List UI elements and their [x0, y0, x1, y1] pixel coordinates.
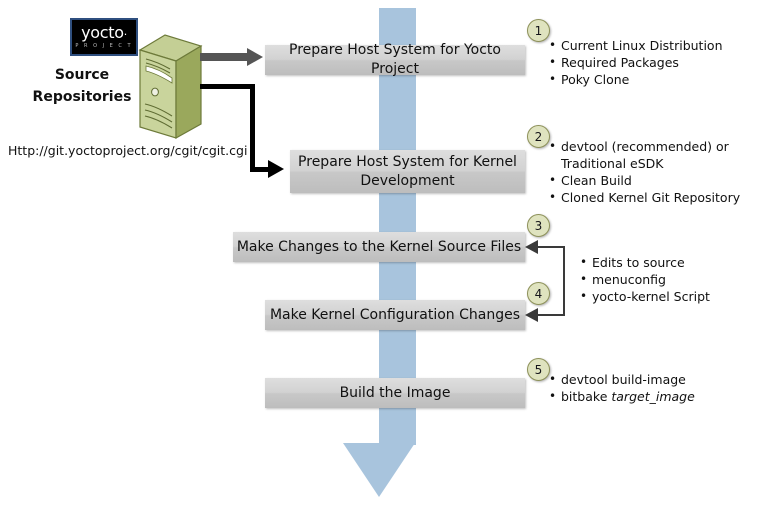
list-item: Clean Build	[549, 172, 740, 189]
step-badge-3: 3	[527, 214, 550, 237]
list-item: Cloned Kernel Git Repository	[549, 189, 740, 206]
connector-server-to-step2-horizontal	[200, 84, 255, 89]
step-badge-4: 4	[527, 282, 550, 305]
list-item: bitbake target_image	[549, 388, 695, 405]
server-tower-icon	[135, 32, 205, 146]
connector-server-to-step2-vertical	[250, 84, 255, 172]
connector-server-to-step1-line	[200, 53, 248, 61]
list-item-prefix: bitbake	[561, 389, 611, 404]
yocto-project-logo: yocto· P R O J E C T	[70, 18, 138, 56]
yocto-logo-wordmark: yocto·	[81, 25, 127, 42]
feedback-bracket-vertical	[563, 246, 565, 316]
list-item: devtool build-image	[549, 371, 695, 388]
process-box-step-2[interactable]: Prepare Host System for Kernel Developme…	[290, 150, 525, 193]
source-repositories-label: Source Repositories	[24, 64, 140, 108]
source-repositories-url: Http://git.yoctoproject.org/cgit/cgit.cg…	[8, 143, 247, 158]
list-item: yocto-kernel Script	[580, 288, 710, 305]
bullet-list-step-1: Current Linux Distribution Required Pack…	[549, 37, 723, 88]
connector-server-to-step1-arrowhead	[247, 48, 263, 66]
yocto-logo-text: yocto	[81, 23, 124, 42]
list-item: Poky Clone	[549, 71, 723, 88]
step-badge-2: 2	[527, 125, 550, 148]
process-box-step-3[interactable]: Make Changes to the Kernel Source Files	[233, 232, 525, 262]
list-item: menuconfig	[580, 271, 710, 288]
list-item: devtool (recommended) or Traditional eSD…	[549, 138, 740, 172]
feedback-bracket-bottom-line	[537, 314, 565, 316]
feedback-arrowhead-step-3	[525, 240, 538, 254]
list-item: Required Packages	[549, 54, 723, 71]
process-box-step-5[interactable]: Build the Image	[265, 378, 525, 408]
list-item-italic-target: target_image	[611, 389, 694, 404]
list-item: Current Linux Distribution	[549, 37, 723, 54]
list-item-line1: devtool (recommended) or	[561, 139, 729, 154]
yocto-logo-dot: ·	[124, 28, 127, 41]
feedback-arrowhead-step-4	[525, 308, 538, 322]
diagram-canvas: yocto· P R O J E C T Source Repositories…	[0, 0, 769, 517]
yocto-logo-subtext: P R O J E C T	[75, 43, 132, 50]
process-box-step-2-line2: Development	[298, 172, 517, 191]
process-box-step-4[interactable]: Make Kernel Configuration Changes	[265, 300, 525, 330]
feedback-bracket-top-line	[537, 246, 565, 248]
main-flow-arrow-head	[343, 443, 415, 497]
process-box-step-1[interactable]: Prepare Host System for Yocto Project	[265, 45, 525, 75]
bullet-list-step-5: devtool build-image bitbake target_image	[549, 371, 695, 405]
process-box-step-2-line1: Prepare Host System for Kernel	[298, 153, 517, 172]
list-item-line2: Traditional eSDK	[561, 155, 740, 172]
step-badge-5: 5	[527, 358, 550, 381]
bullet-list-steps-3-and-4: Edits to source menuconfig yocto-kernel …	[580, 254, 710, 305]
source-repositories-line1: Source	[24, 64, 140, 86]
connector-server-to-step2-arrowhead	[268, 160, 284, 178]
list-item: Edits to source	[580, 254, 710, 271]
source-repositories-line2: Repositories	[24, 86, 140, 108]
bullet-list-step-2: devtool (recommended) or Traditional eSD…	[549, 138, 740, 206]
step-badge-1: 1	[527, 19, 550, 42]
